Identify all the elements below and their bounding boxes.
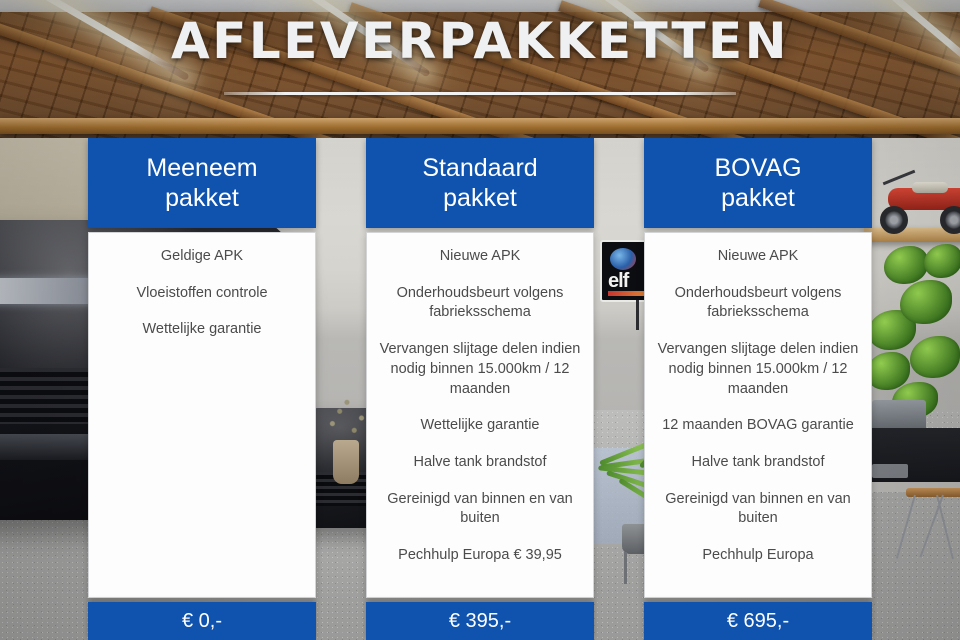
package-feature-list: Nieuwe APK Onderhoudsbeurt volgens fabri… bbox=[644, 232, 872, 598]
package-title-line-1: Standaard bbox=[422, 154, 537, 182]
package-title-line-2: pakket bbox=[721, 184, 795, 212]
package-title: Meeneem pakket bbox=[146, 153, 257, 214]
package-feature: Gereinigd van binnen en van buiten bbox=[655, 490, 861, 529]
package-feature: Pechhulp Europa bbox=[655, 546, 861, 566]
page-title: AFLEVERPAKKETTEN bbox=[0, 16, 960, 66]
package-card-meeneem[interactable]: Meeneem pakket Geldige APK Vloeistoffen … bbox=[88, 138, 316, 640]
package-card-header: BOVAG pakket bbox=[644, 138, 872, 228]
package-feature: Nieuwe APK bbox=[377, 247, 583, 267]
package-card-header: Standaard pakket bbox=[366, 138, 594, 228]
package-title-line-1: Meeneem bbox=[146, 154, 257, 182]
package-price: € 695,- bbox=[644, 602, 872, 640]
package-feature: Vloeistoffen controle bbox=[99, 284, 305, 304]
package-title: Standaard pakket bbox=[422, 153, 537, 214]
package-title-line-2: pakket bbox=[443, 184, 517, 212]
package-feature: Onderhoudsbeurt volgens fabrieksschema bbox=[377, 284, 583, 323]
title-divider bbox=[224, 92, 736, 95]
package-feature: Pechhulp Europa € 39,95 bbox=[377, 546, 583, 566]
package-feature: Halve tank brandstof bbox=[377, 453, 583, 473]
package-price: € 395,- bbox=[366, 602, 594, 640]
package-card-header: Meeneem pakket bbox=[88, 138, 316, 228]
package-feature: Geldige APK bbox=[99, 247, 305, 267]
package-title: BOVAG pakket bbox=[714, 153, 801, 214]
package-feature: Vervangen slijtage delen indien nodig bi… bbox=[377, 340, 583, 399]
package-title-line-1: BOVAG bbox=[714, 154, 801, 182]
package-cards: Meeneem pakket Geldige APK Vloeistoffen … bbox=[0, 0, 960, 640]
page-header: AFLEVERPAKKETTEN bbox=[0, 16, 960, 95]
package-feature: Gereinigd van binnen en van buiten bbox=[377, 490, 583, 529]
package-feature: Halve tank brandstof bbox=[655, 453, 861, 473]
package-card-bovag[interactable]: BOVAG pakket Nieuwe APK Onderhoudsbeurt … bbox=[644, 138, 872, 640]
package-feature: Onderhoudsbeurt volgens fabrieksschema bbox=[655, 284, 861, 323]
package-feature-list: Geldige APK Vloeistoffen controle Wettel… bbox=[88, 232, 316, 598]
package-price: € 0,- bbox=[88, 602, 316, 640]
package-feature: Wettelijke garantie bbox=[99, 320, 305, 340]
package-feature: 12 maanden BOVAG garantie bbox=[655, 416, 861, 436]
package-title-line-2: pakket bbox=[165, 184, 239, 212]
package-feature-list: Nieuwe APK Onderhoudsbeurt volgens fabri… bbox=[366, 232, 594, 598]
package-feature: Vervangen slijtage delen indien nodig bi… bbox=[655, 340, 861, 399]
package-feature: Wettelijke garantie bbox=[377, 416, 583, 436]
package-card-standaard[interactable]: Standaard pakket Nieuwe APK Onderhoudsbe… bbox=[366, 138, 594, 640]
package-feature: Nieuwe APK bbox=[655, 247, 861, 267]
delivery-packages-page: elf bbox=[0, 0, 960, 640]
